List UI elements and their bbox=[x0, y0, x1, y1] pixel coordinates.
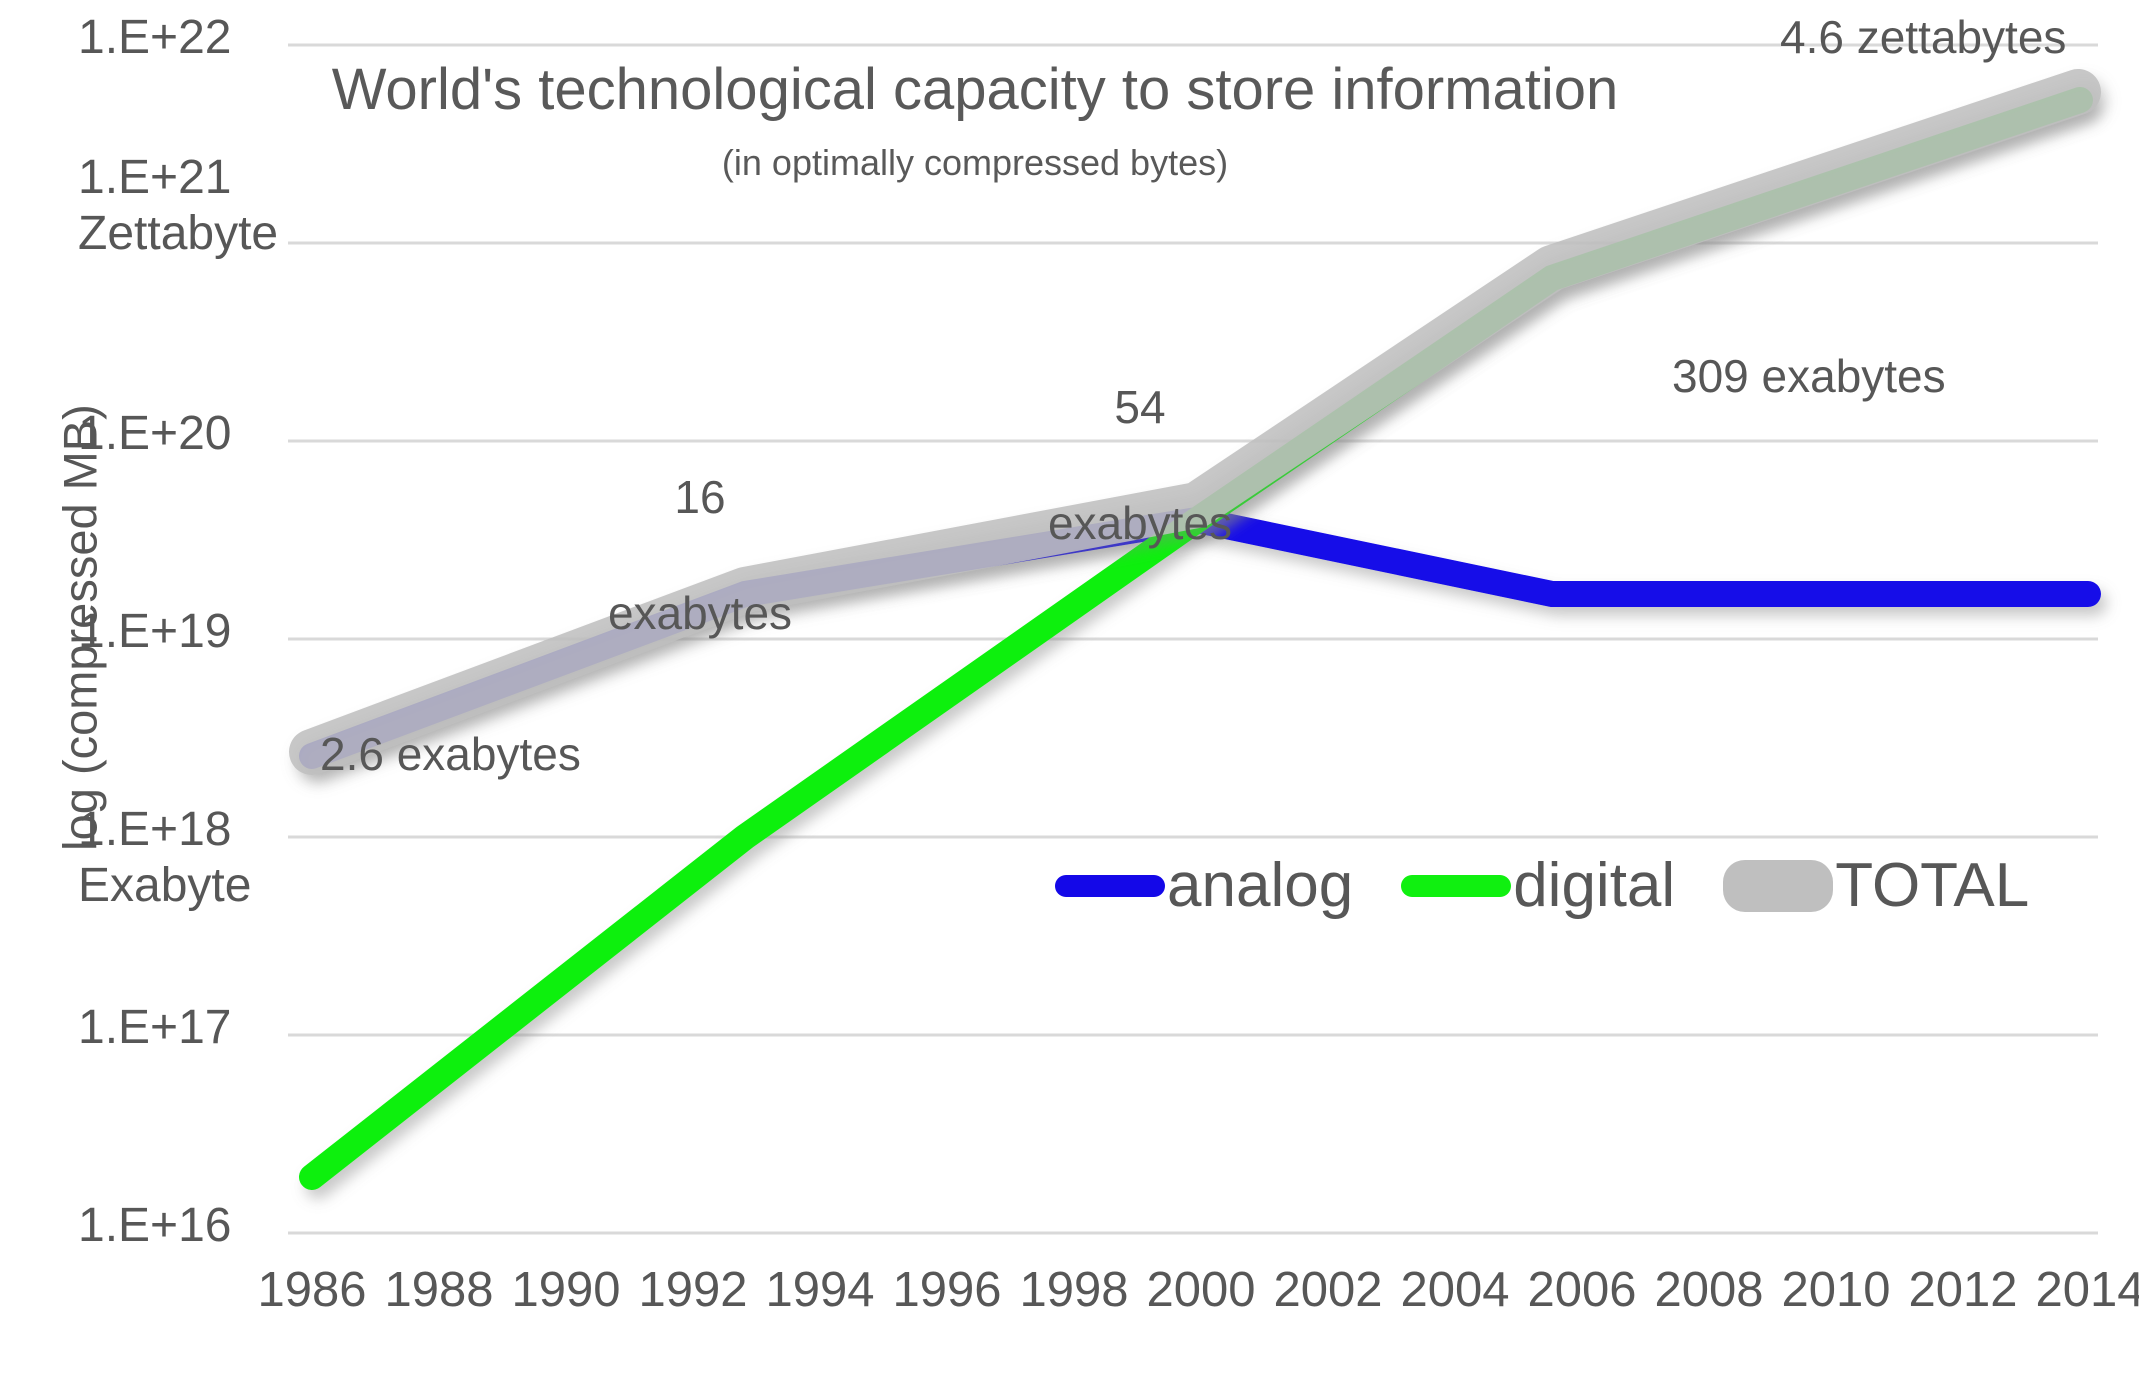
y-tick-1e21: 1.E+21 Zettabyte bbox=[78, 150, 278, 262]
annotation-54-exabytes-line1: 54 bbox=[1015, 378, 1265, 436]
legend-swatch-analog bbox=[1055, 875, 1165, 897]
y-tick-label: 1.E+21 bbox=[78, 151, 231, 204]
y-tick-1e19: 1.E+19 bbox=[78, 604, 278, 660]
x-axis-ticks: 1986 1988 1990 1992 1994 1996 1998 2000 … bbox=[288, 1262, 2098, 1332]
annotation-309-exabytes: 309 exabytes bbox=[1672, 347, 2072, 405]
plot-area bbox=[0, 0, 2139, 1377]
x-tick-2014: 2014 bbox=[2010, 1262, 2139, 1318]
legend-item-total[interactable]: TOTAL bbox=[1723, 855, 2029, 917]
annotation-16-exabytes-line2: exabytes bbox=[575, 584, 825, 642]
legend-label-digital: digital bbox=[1513, 855, 1675, 917]
annotation-16-exabytes-line1: 16 bbox=[575, 468, 825, 526]
y-tick-label: 1.E+20 bbox=[78, 407, 231, 460]
chart-legend[interactable]: analog digital TOTAL bbox=[1055, 855, 2029, 917]
legend-swatch-total bbox=[1723, 860, 1833, 912]
y-tick-label: 1.E+19 bbox=[78, 605, 231, 658]
annotation-54-exabytes-line2: exabytes bbox=[1015, 494, 1265, 552]
chart-subtitle: (in optimally compressed bytes) bbox=[250, 142, 1700, 184]
y-tick-label: 1.E+22 bbox=[78, 11, 231, 64]
y-tick-1e18: 1.E+18 Exabyte bbox=[78, 802, 278, 914]
y-tick-unit-zettabyte: Zettabyte bbox=[78, 206, 278, 262]
y-tick-label: 1.E+16 bbox=[78, 1199, 231, 1252]
y-tick-1e20: 1.E+20 bbox=[78, 406, 278, 462]
y-tick-1e17: 1.E+17 bbox=[78, 1000, 278, 1056]
y-tick-1e16: 1.E+16 bbox=[78, 1198, 278, 1254]
legend-item-digital[interactable]: digital bbox=[1401, 855, 1675, 917]
annotation-54-exabytes: 54 exabytes bbox=[1015, 320, 1265, 610]
y-tick-label: 1.E+18 bbox=[78, 803, 231, 856]
page-title: World's technological capacity to store … bbox=[250, 56, 1700, 123]
legend-label-analog: analog bbox=[1167, 855, 1353, 917]
legend-item-analog[interactable]: analog bbox=[1055, 855, 1353, 917]
y-tick-1e22: 1.E+22 bbox=[78, 10, 278, 66]
y-tick-unit-exabyte: Exabyte bbox=[78, 858, 278, 914]
annotation-2-6-exabytes: 2.6 exabytes bbox=[320, 725, 660, 783]
annotation-4-6-zettabytes: 4.6 zettabytes bbox=[1780, 8, 2130, 66]
legend-label-total: TOTAL bbox=[1835, 855, 2029, 917]
annotation-16-exabytes: 16 exabytes bbox=[575, 410, 825, 700]
chart-container: log (compressed MB) 1.E+22 1.E+21 Zettab… bbox=[0, 0, 2139, 1377]
legend-swatch-digital bbox=[1401, 875, 1511, 897]
y-tick-label: 1.E+17 bbox=[78, 1001, 231, 1054]
